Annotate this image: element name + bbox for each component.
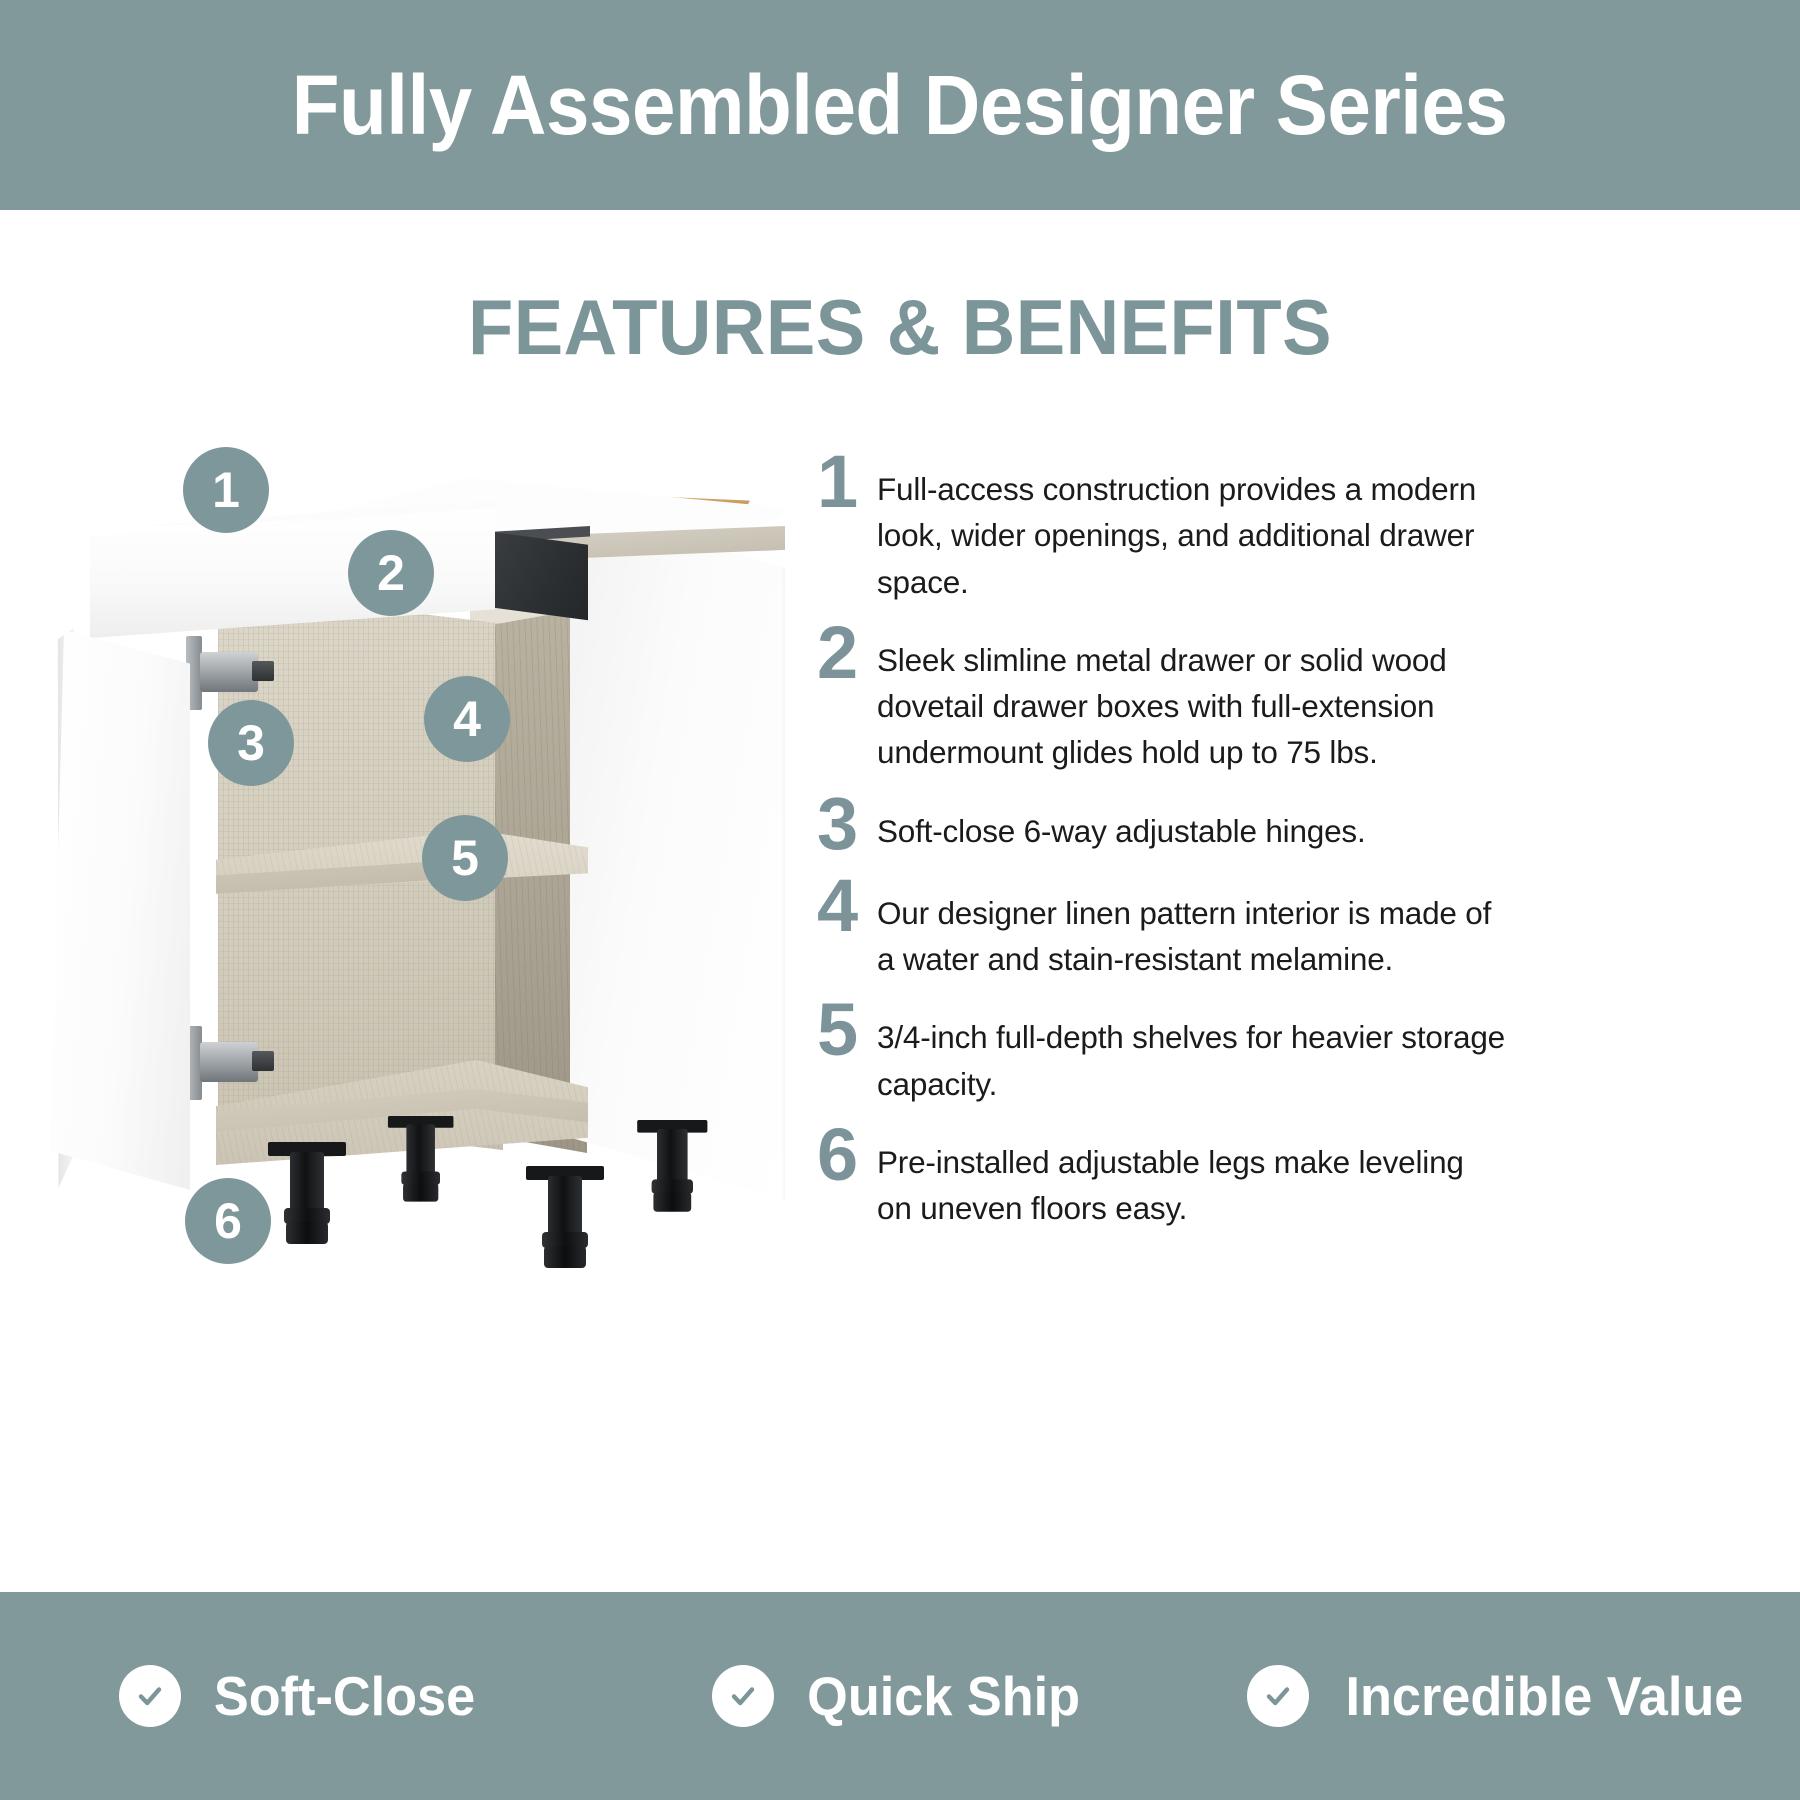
leg-foot [403, 1183, 438, 1201]
feature-item: 2 Sleek slimline metal drawer or solid w… [805, 619, 1505, 776]
callout-badge-5: 5 [422, 815, 508, 901]
feature-number: 4 [805, 872, 877, 940]
leg-post [290, 1152, 324, 1214]
feature-description: 3/4-inch full-depth shelves for heavier … [877, 996, 1505, 1107]
soft-close-hinge-bottom [200, 1042, 258, 1082]
callout-badge-3: 3 [208, 700, 294, 786]
feature-number: 5 [805, 996, 877, 1064]
leg-foot [286, 1222, 328, 1244]
feature-number: 3 [805, 790, 877, 858]
feature-number: 6 [805, 1121, 877, 1189]
feature-item: 4 Our designer linen pattern interior is… [805, 872, 1505, 983]
callout-badge-6: 6 [185, 1178, 271, 1264]
cabinet-door-panel [50, 630, 190, 1190]
feature-description: Soft-close 6-way adjustable hinges. [877, 790, 1505, 854]
leg-foot [544, 1246, 586, 1268]
section-heading: FEATURES & BENEFITS [45, 282, 1755, 373]
feature-number: 1 [805, 448, 877, 516]
footer-badge-soft-close: Soft-Close [0, 1664, 600, 1728]
callout-badge-4: 4 [424, 676, 510, 762]
feature-description: Sleek slimline metal drawer or solid woo… [877, 619, 1505, 776]
check-circle-icon [119, 1665, 181, 1727]
feature-item: 1 Full-access construction provides a mo… [805, 448, 1505, 605]
feature-list: 1 Full-access construction provides a mo… [805, 448, 1505, 1246]
feature-description: Pre-installed adjustable legs make level… [877, 1121, 1505, 1232]
feature-description: Full-access construction provides a mode… [877, 448, 1505, 605]
leg-post [548, 1176, 582, 1238]
soft-close-hinge-top [200, 652, 258, 692]
feature-number: 2 [805, 619, 877, 687]
leg-post [406, 1124, 435, 1176]
feature-description: Our designer linen pattern interior is m… [877, 872, 1505, 983]
header-bar: Fully Assembled Designer Series [0, 0, 1800, 210]
callout-badge-2: 2 [348, 530, 434, 616]
check-circle-icon [712, 1665, 774, 1727]
footer-badge-label: Incredible Value [1345, 1664, 1743, 1728]
footer-badge-label: Soft-Close [213, 1664, 474, 1728]
cabinet-right-side-panel [570, 505, 785, 1200]
check-circle-icon [1247, 1665, 1309, 1727]
footer-badge-incredible-value: Incredible Value [1200, 1664, 1800, 1728]
footer-badge-quick-ship: Quick Ship [600, 1664, 1200, 1728]
feature-item: 5 3/4-inch full-depth shelves for heavie… [805, 996, 1505, 1107]
callout-badge-1: 1 [183, 447, 269, 533]
feature-item: 6 Pre-installed adjustable legs make lev… [805, 1121, 1505, 1232]
page-title: Fully Assembled Designer Series [292, 57, 1508, 154]
leg-post [657, 1129, 688, 1185]
feature-item: 3 Soft-close 6-way adjustable hinges. [805, 790, 1505, 858]
footer-bar: Soft-Close Quick Ship Incredible Value [0, 1592, 1800, 1800]
leg-foot [653, 1192, 691, 1212]
footer-badge-label: Quick Ship [808, 1664, 1081, 1728]
